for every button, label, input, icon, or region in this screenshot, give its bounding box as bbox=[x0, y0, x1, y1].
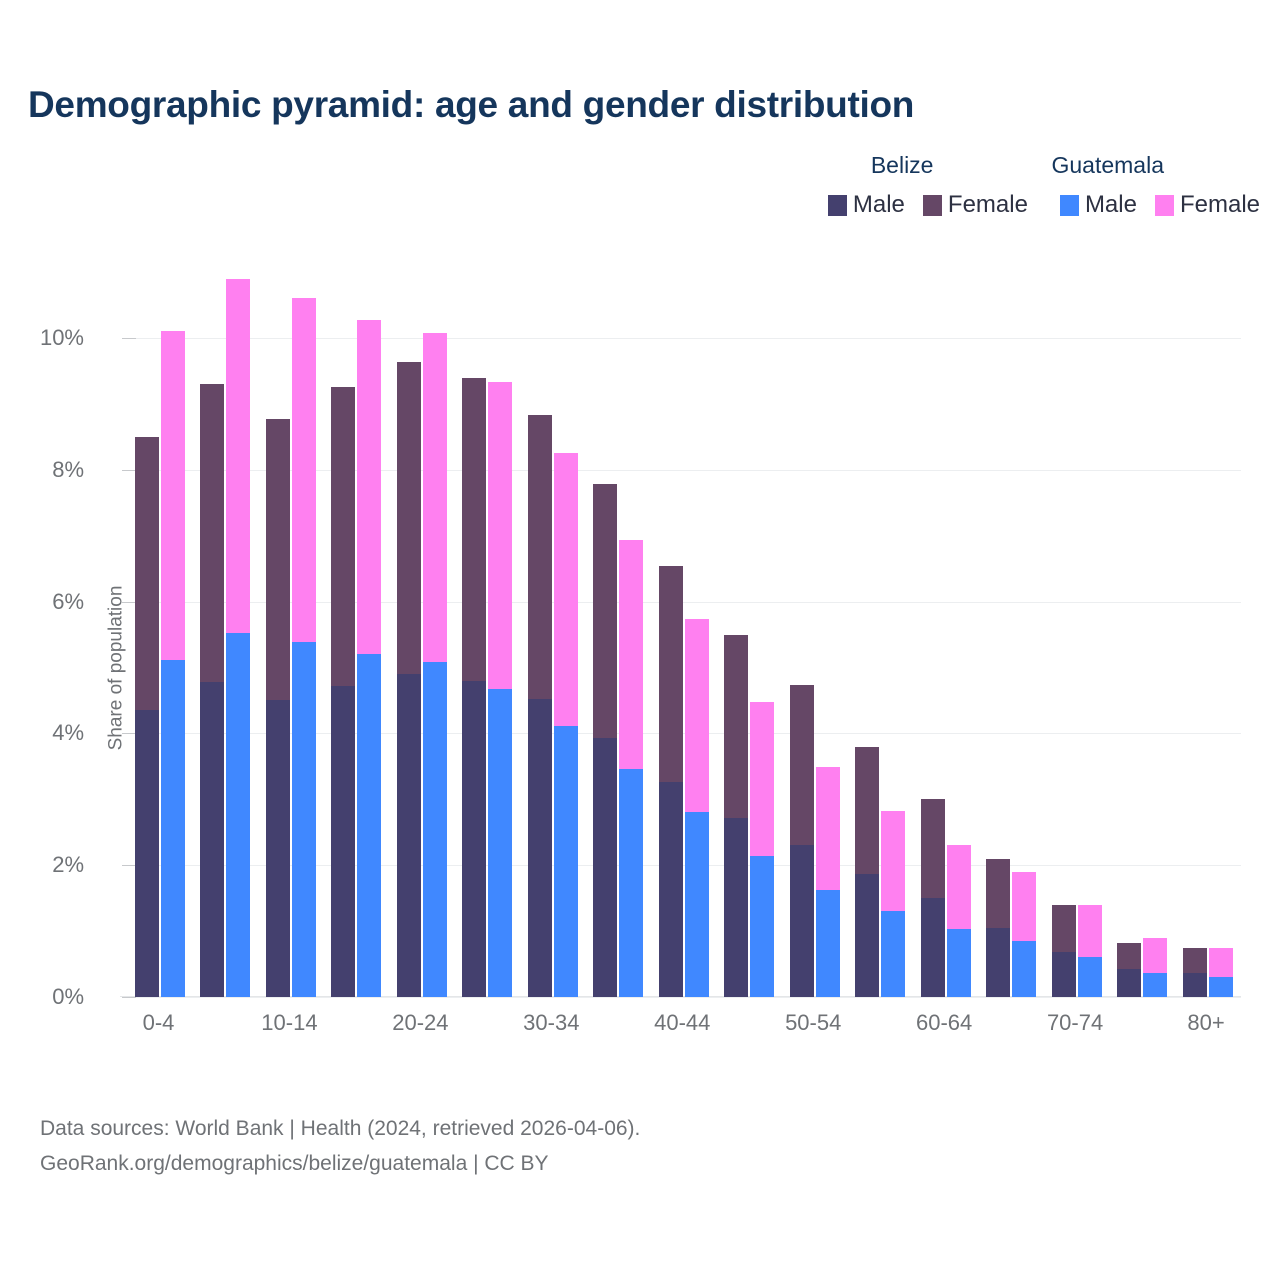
bar-guatemala[interactable] bbox=[1078, 905, 1102, 997]
bar-segment-guatemala-male[interactable] bbox=[292, 642, 316, 997]
bar-belize[interactable] bbox=[921, 799, 945, 997]
bar-guatemala[interactable] bbox=[1143, 938, 1167, 997]
bar-segment-guatemala-female[interactable] bbox=[1143, 938, 1167, 973]
bar-group bbox=[981, 338, 1038, 997]
bar-segment-guatemala-male[interactable] bbox=[881, 911, 905, 997]
bar-segment-guatemala-male[interactable] bbox=[1209, 977, 1233, 997]
legend-label-guatemala-female: Female bbox=[1180, 191, 1260, 219]
bar-belize[interactable] bbox=[659, 566, 683, 997]
bar-segment-belize-female[interactable] bbox=[331, 387, 355, 686]
bar-segment-belize-female[interactable] bbox=[1117, 943, 1141, 969]
footer-attribution: GeoRank.org/demographics/belize/guatemal… bbox=[40, 1147, 640, 1182]
x-tick-label: 30-34 bbox=[523, 1010, 579, 1036]
bar-segment-belize-female[interactable] bbox=[855, 747, 879, 875]
bar-guatemala[interactable] bbox=[292, 298, 316, 997]
bar-segment-guatemala-female[interactable] bbox=[1012, 872, 1036, 941]
bar-belize[interactable] bbox=[200, 384, 224, 997]
bar-segment-guatemala-male[interactable] bbox=[423, 662, 447, 997]
legend-item-guatemala-male[interactable]: Male bbox=[1060, 191, 1137, 219]
bar-segment-guatemala-male[interactable] bbox=[816, 890, 840, 997]
bar-group bbox=[654, 338, 711, 997]
y-tick-label: 2% bbox=[52, 852, 84, 878]
x-tick-label: 70-74 bbox=[1047, 1010, 1103, 1036]
bar-segment-guatemala-female[interactable] bbox=[226, 279, 250, 634]
bar-segment-guatemala-female[interactable] bbox=[161, 331, 185, 659]
bar-segment-belize-female[interactable] bbox=[200, 384, 224, 682]
bar-segment-guatemala-male[interactable] bbox=[488, 689, 512, 997]
y-tick-label: 10% bbox=[40, 325, 84, 351]
bar-belize[interactable] bbox=[135, 437, 159, 997]
bar-guatemala[interactable] bbox=[947, 845, 971, 997]
bar-segment-belize-male[interactable] bbox=[462, 681, 486, 997]
bar-segment-belize-female[interactable] bbox=[462, 378, 486, 681]
bar-belize[interactable] bbox=[724, 635, 748, 997]
page-title: Demographic pyramid: age and gender dist… bbox=[28, 84, 914, 126]
bar-segment-guatemala-female[interactable] bbox=[423, 333, 447, 663]
bar-belize[interactable] bbox=[397, 362, 421, 997]
bar-segment-guatemala-male[interactable] bbox=[357, 654, 381, 997]
bar-group bbox=[195, 338, 252, 997]
bar-segment-guatemala-male[interactable] bbox=[750, 856, 774, 997]
bar-segment-belize-female[interactable] bbox=[1183, 948, 1207, 973]
bar-segment-guatemala-female[interactable] bbox=[947, 845, 971, 929]
x-tick-label: 60-64 bbox=[916, 1010, 972, 1036]
bar-belize[interactable] bbox=[1117, 943, 1141, 997]
bar-segment-guatemala-male[interactable] bbox=[619, 769, 643, 997]
bar-segment-belize-female[interactable] bbox=[266, 419, 290, 700]
bar-belize[interactable] bbox=[331, 387, 355, 997]
bar-belize[interactable] bbox=[1183, 948, 1207, 997]
x-tick-label: 20-24 bbox=[392, 1010, 448, 1036]
chart-legend: Belize Guatemala Male Female Male Female bbox=[700, 152, 1260, 219]
bar-guatemala[interactable] bbox=[816, 767, 840, 997]
y-tick-mark bbox=[122, 997, 136, 998]
legend-group-titles: Belize Guatemala bbox=[700, 152, 1260, 179]
bar-segment-belize-female[interactable] bbox=[593, 484, 617, 738]
legend-swatch-guatemala-female bbox=[1155, 195, 1174, 216]
gridline bbox=[128, 997, 1241, 998]
bar-segment-guatemala-female[interactable] bbox=[750, 702, 774, 856]
chart-page: Demographic pyramid: age and gender dist… bbox=[0, 0, 1280, 1280]
bar-guatemala[interactable] bbox=[357, 320, 381, 997]
y-axis-label: Share of population bbox=[105, 585, 127, 750]
bar-segment-belize-male[interactable] bbox=[397, 674, 421, 997]
bar-guatemala[interactable] bbox=[161, 331, 185, 997]
bar-belize[interactable] bbox=[1052, 905, 1076, 997]
bar-segment-belize-female[interactable] bbox=[659, 566, 683, 781]
bar-group bbox=[457, 338, 514, 997]
y-tick-label: 6% bbox=[52, 589, 84, 615]
bar-segment-belize-male[interactable] bbox=[528, 699, 552, 997]
bar-segment-belize-male[interactable] bbox=[135, 710, 159, 997]
bar-group bbox=[588, 338, 645, 997]
bar-segment-guatemala-male[interactable] bbox=[1143, 973, 1167, 997]
bar-segment-guatemala-female[interactable] bbox=[292, 298, 316, 642]
bar-segment-belize-female[interactable] bbox=[790, 685, 814, 846]
bar-guatemala[interactable] bbox=[488, 382, 512, 997]
bar-belize[interactable] bbox=[266, 419, 290, 997]
bar-segment-guatemala-male[interactable] bbox=[226, 633, 250, 997]
bar-belize[interactable] bbox=[986, 859, 1010, 997]
bar-segment-guatemala-male[interactable] bbox=[947, 929, 971, 997]
bar-segment-belize-male[interactable] bbox=[921, 898, 945, 997]
bar-segment-belize-male[interactable] bbox=[659, 782, 683, 997]
legend-label-belize-male: Male bbox=[853, 191, 905, 219]
bar-segment-guatemala-male[interactable] bbox=[1078, 957, 1102, 997]
bar-group bbox=[1112, 338, 1169, 997]
x-tick-label: 40-44 bbox=[654, 1010, 710, 1036]
bar-guatemala[interactable] bbox=[554, 453, 578, 997]
bar-guatemala[interactable] bbox=[1012, 872, 1036, 997]
bar-segment-belize-male[interactable] bbox=[593, 738, 617, 997]
bar-segment-belize-female[interactable] bbox=[528, 415, 552, 699]
legend-swatch-belize-male bbox=[828, 195, 847, 216]
bar-belize[interactable] bbox=[855, 747, 879, 997]
bar-segment-guatemala-male[interactable] bbox=[1012, 941, 1036, 997]
x-tick-label: 80+ bbox=[1187, 1010, 1224, 1036]
bar-belize[interactable] bbox=[593, 484, 617, 997]
bar-segment-guatemala-female[interactable] bbox=[816, 767, 840, 890]
bar-segment-guatemala-female[interactable] bbox=[881, 811, 905, 912]
x-tick-label: 0-4 bbox=[143, 1010, 175, 1036]
bar-segment-guatemala-female[interactable] bbox=[554, 453, 578, 725]
bar-group bbox=[850, 338, 907, 997]
bar-guatemala[interactable] bbox=[619, 540, 643, 997]
bar-belize[interactable] bbox=[528, 415, 552, 997]
legend-item-belize-female[interactable]: Female bbox=[923, 191, 1028, 219]
bar-belize[interactable] bbox=[790, 685, 814, 997]
bar-guatemala[interactable] bbox=[226, 279, 250, 997]
plot-area: Share of population 0%2%4%6%8%10% 0-410-… bbox=[128, 338, 1241, 997]
legend-item-guatemala-female[interactable]: Female bbox=[1155, 191, 1260, 219]
legend-swatch-belize-female bbox=[923, 195, 942, 216]
bar-segment-belize-female[interactable] bbox=[1052, 905, 1076, 952]
bar-group bbox=[130, 338, 187, 997]
bar-group bbox=[1178, 338, 1235, 997]
bar-group bbox=[785, 338, 842, 997]
bar-segment-belize-male[interactable] bbox=[790, 845, 814, 997]
bar-guatemala[interactable] bbox=[881, 811, 905, 997]
legend-label-belize-female: Female bbox=[948, 191, 1028, 219]
bar-segment-guatemala-female[interactable] bbox=[357, 320, 381, 655]
bar-group bbox=[392, 338, 449, 997]
bar-segment-belize-female[interactable] bbox=[724, 635, 748, 818]
y-tick-label: 0% bbox=[52, 984, 84, 1010]
bar-segment-belize-male[interactable] bbox=[1183, 973, 1207, 997]
bar-guatemala[interactable] bbox=[1209, 948, 1233, 997]
legend-label-guatemala-male: Male bbox=[1085, 191, 1137, 219]
bar-segment-guatemala-male[interactable] bbox=[161, 660, 185, 997]
bar-guatemala[interactable] bbox=[423, 333, 447, 997]
bar-segment-belize-female[interactable] bbox=[397, 362, 421, 674]
y-tick-label: 4% bbox=[52, 720, 84, 746]
legend-item-belize-male[interactable]: Male bbox=[828, 191, 905, 219]
legend-group-title-guatemala: Guatemala bbox=[1051, 152, 1164, 179]
bar-segment-belize-male[interactable] bbox=[331, 686, 355, 997]
x-tick-label: 10-14 bbox=[261, 1010, 317, 1036]
bar-segment-guatemala-female[interactable] bbox=[488, 382, 512, 689]
bar-group bbox=[719, 338, 776, 997]
bar-guatemala[interactable] bbox=[750, 702, 774, 997]
bar-group bbox=[261, 338, 318, 997]
legend-swatch-guatemala-male bbox=[1060, 195, 1079, 216]
bar-segment-guatemala-female[interactable] bbox=[1209, 948, 1233, 978]
bar-guatemala[interactable] bbox=[685, 619, 709, 997]
y-tick-label: 8% bbox=[52, 457, 84, 483]
bar-segment-guatemala-male[interactable] bbox=[554, 726, 578, 998]
bar-segment-guatemala-male[interactable] bbox=[685, 812, 709, 997]
bar-segment-guatemala-female[interactable] bbox=[685, 619, 709, 812]
bar-segment-belize-female[interactable] bbox=[921, 799, 945, 898]
legend-items: Male Female Male Female bbox=[700, 191, 1260, 219]
bar-segment-belize-male[interactable] bbox=[855, 874, 879, 997]
x-tick-label: 50-54 bbox=[785, 1010, 841, 1036]
bar-segment-belize-male[interactable] bbox=[266, 700, 290, 997]
bar-group bbox=[1047, 338, 1104, 997]
bar-segment-belize-male[interactable] bbox=[724, 818, 748, 997]
bar-segment-belize-female[interactable] bbox=[986, 859, 1010, 929]
bar-segment-guatemala-female[interactable] bbox=[619, 540, 643, 769]
bar-group bbox=[326, 338, 383, 997]
bar-segment-belize-female[interactable] bbox=[135, 437, 159, 710]
bar-segment-belize-male[interactable] bbox=[1117, 969, 1141, 997]
legend-group-title-belize: Belize bbox=[871, 152, 934, 179]
footer: Data sources: World Bank | Health (2024,… bbox=[40, 1112, 640, 1181]
bar-segment-guatemala-female[interactable] bbox=[1078, 905, 1102, 956]
bar-group bbox=[523, 338, 580, 997]
bar-group bbox=[916, 338, 973, 997]
bar-segment-belize-male[interactable] bbox=[1052, 952, 1076, 997]
footer-data-sources: Data sources: World Bank | Health (2024,… bbox=[40, 1112, 640, 1147]
bar-segment-belize-male[interactable] bbox=[200, 682, 224, 997]
bar-segment-belize-male[interactable] bbox=[986, 928, 1010, 997]
bar-belize[interactable] bbox=[462, 378, 486, 997]
